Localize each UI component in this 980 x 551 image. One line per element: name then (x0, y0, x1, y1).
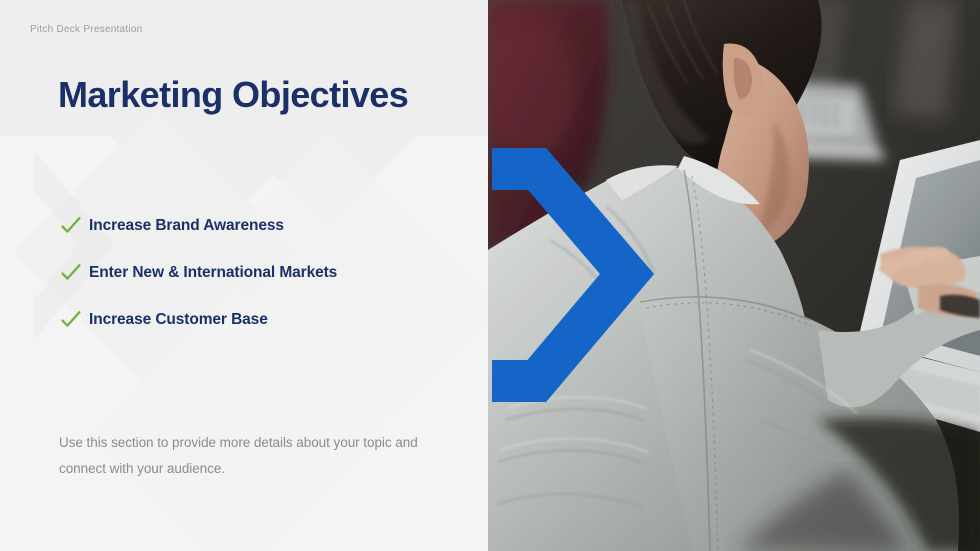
person-working-on-laptop-photo (488, 0, 980, 551)
list-item-label: Enter New & International Markets (89, 264, 337, 282)
check-icon (60, 262, 82, 284)
list-item: Increase Customer Base (60, 308, 460, 332)
slide-kicker-label: Pitch Deck Presentation (30, 24, 142, 35)
list-item: Increase Brand Awareness (60, 214, 460, 238)
body-paragraph: Use this section to provide more details… (59, 430, 429, 482)
list-item-label: Increase Brand Awareness (89, 217, 284, 235)
slide-canvas: Pitch Deck Presentation Marketing Object… (0, 0, 980, 551)
page-title: Marketing Objectives (58, 74, 408, 116)
check-icon (60, 215, 82, 237)
list-item-label: Increase Customer Base (89, 311, 268, 329)
left-content-panel: Pitch Deck Presentation Marketing Object… (0, 0, 488, 551)
objectives-list: Increase Brand Awareness Enter New & Int… (60, 214, 460, 355)
check-icon (60, 309, 82, 331)
list-item: Enter New & International Markets (60, 261, 460, 285)
